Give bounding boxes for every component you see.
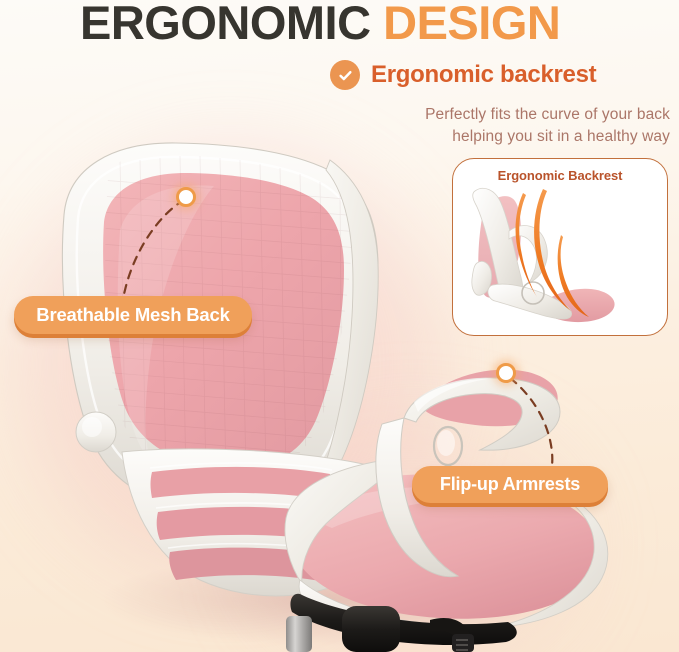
hotspot-dot-armrest[interactable] [496,363,516,383]
title-primary: ERGONOMIC [80,0,371,49]
title-accent: DESIGN [383,0,560,49]
inset-side-view-illustration [453,159,667,335]
product-feature-graphic: ERGONOMIC DESIGN Ergonomic backrest Perf… [0,0,679,652]
feature-headline-text: Ergonomic backrest [371,61,596,89]
feature-subtitle: Perfectly fits the curve of your back he… [330,104,670,148]
subtitle-line-1: Perfectly fits the curve of your back [330,104,670,126]
callout-pill-flip-up-armrests[interactable]: Flip-up Armrests [412,466,608,503]
callout-pill-breathable-mesh-back[interactable]: Breathable Mesh Back [14,296,252,334]
subtitle-line-2: helping you sit in a healthy way [330,126,670,148]
feature-headline: Ergonomic backrest [330,60,670,90]
check-circle-icon [330,60,360,90]
ergonomic-backrest-inset: Ergonomic Backrest [452,158,668,336]
gas-cylinder [286,616,312,652]
hotspot-dot-mesh[interactable] [176,187,196,207]
page-title: ERGONOMIC DESIGN [80,0,560,50]
